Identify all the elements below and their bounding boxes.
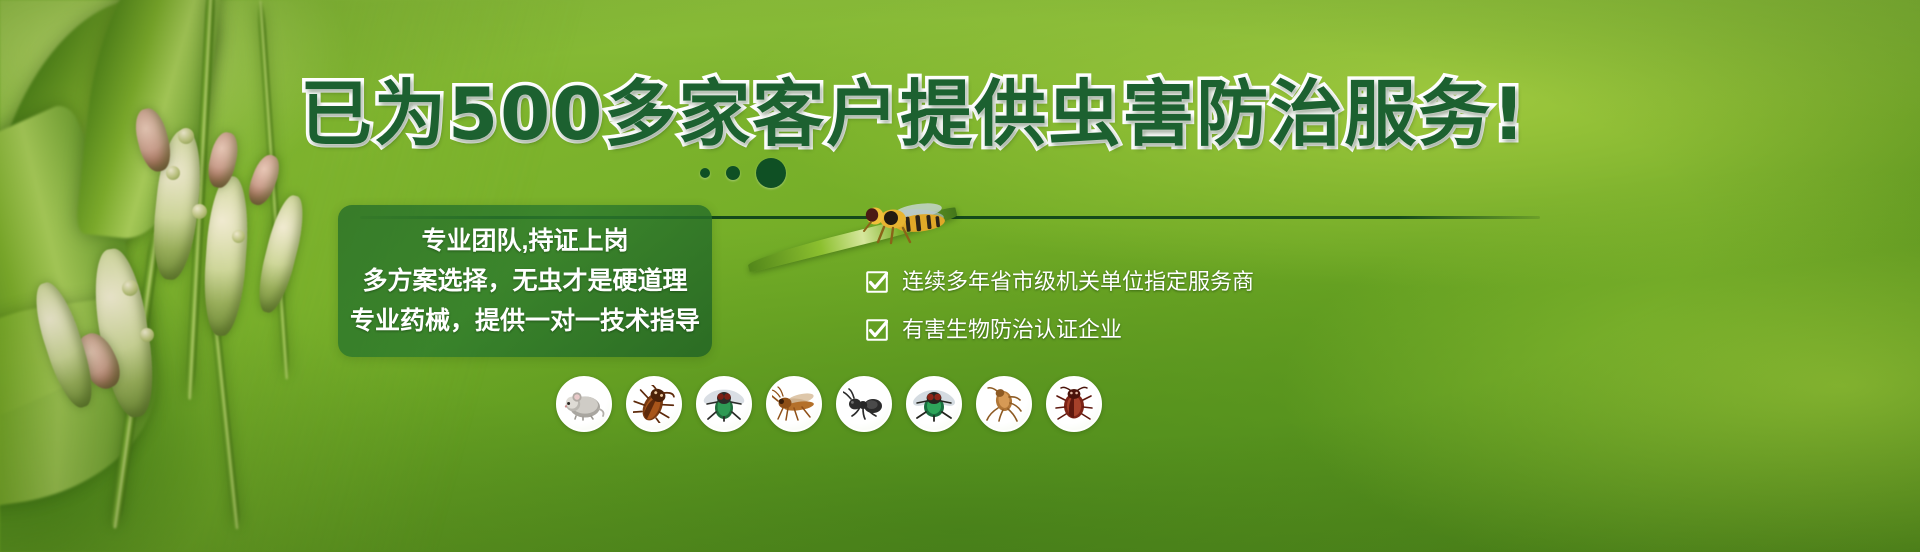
checkbox-checked-icon [866,271,888,293]
credential-label: 连续多年省市级机关单位指定服务商 [902,270,1254,294]
credentials-list: 连续多年省市级机关单位指定服务商 有害生物防治认证企业 [866,270,1254,342]
small-dot [700,168,710,178]
list-item: 有害生物防治认证企业 [866,318,1254,342]
mouse-icon[interactable] [556,376,612,432]
pest-icon-row [556,376,1102,432]
list-item: 连续多年省市级机关单位指定服务商 [866,270,1254,294]
blowfly-icon[interactable] [906,376,962,432]
flea-icon[interactable] [976,376,1032,432]
credential-label: 有害生物防治认证企业 [902,318,1122,342]
claims-panel-text: 专业团队,持证上岗 多方案选择，无虫才是硬道理 专业药械，提供一对一技术指导 [338,205,712,357]
large-dot [756,158,786,188]
mosquito-icon[interactable] [766,376,822,432]
cockroach-icon[interactable] [626,376,682,432]
claim-line-1: 专业团队,持证上岗 [422,226,629,256]
fly-icon[interactable] [696,376,752,432]
checkbox-checked-icon [866,319,888,341]
page-title: 已为500多家客户提供虫害防治服务! [300,74,1300,154]
headline-dots [700,158,786,188]
claim-line-2: 多方案选择，无虫才是硬道理 [362,266,687,296]
claim-line-3: 专业药械，提供一对一技术指导 [350,306,700,336]
hoverfly-icon [860,198,960,246]
medium-dot [726,166,740,180]
bedbug-icon[interactable] [1046,376,1102,432]
ant-icon[interactable] [836,376,892,432]
pest-control-hero-banner: 已为500多家客户提供虫害防治服务! [0,0,1920,552]
